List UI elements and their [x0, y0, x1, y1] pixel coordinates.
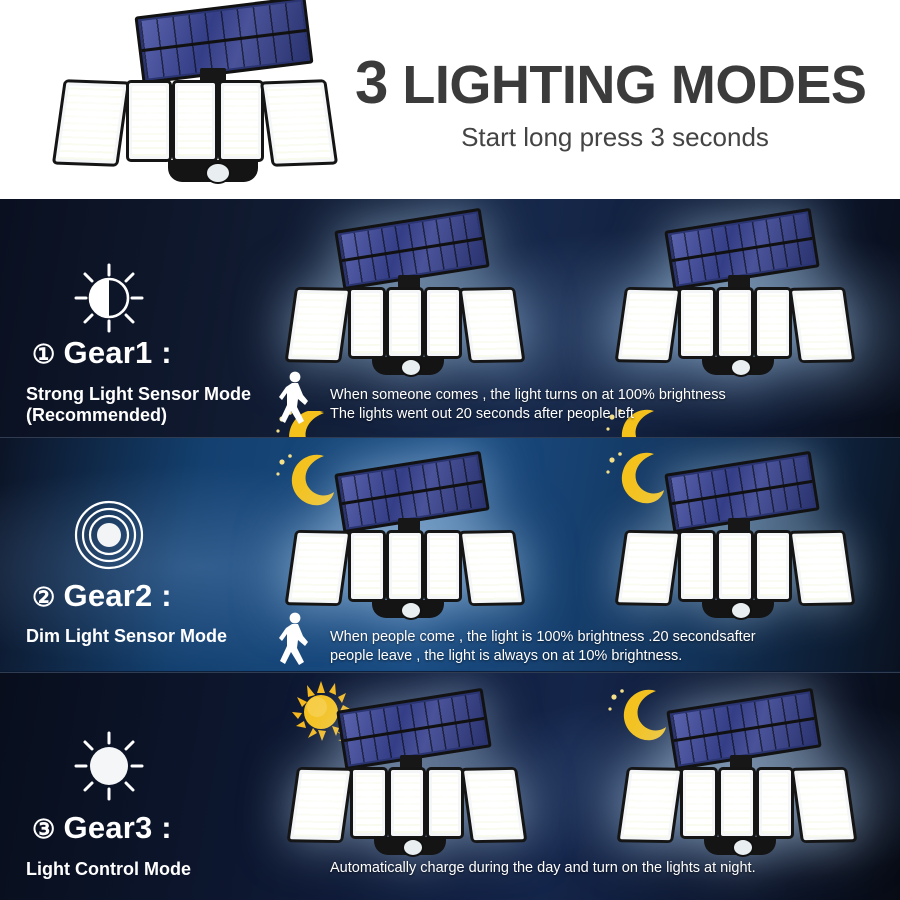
motion-sensor-icon	[400, 358, 422, 377]
led-array	[797, 773, 850, 837]
gear3-description-line1: Automatically charge during the day and …	[330, 859, 756, 878]
half-brightness-sun-icon	[74, 263, 144, 333]
led-panel-center-3	[426, 767, 464, 839]
led-head-group	[58, 80, 332, 166]
led-head-group	[290, 530, 520, 606]
gear1-description-line1: When someone comes , the light turns on …	[330, 386, 726, 405]
page-title-number: 3	[355, 49, 388, 116]
motion-sensor-icon	[730, 358, 752, 377]
led-array	[394, 773, 420, 833]
led-array	[356, 773, 382, 833]
gear2-subtitle-line1: Dim Light Sensor Mode	[26, 625, 227, 648]
led-panel-right-wing	[789, 530, 856, 606]
mode-section-gear3: ③Gear3 : Light Control Mode Automaticall…	[0, 673, 900, 900]
led-array	[293, 773, 346, 837]
led-panel-center-1	[348, 287, 386, 359]
led-array	[722, 293, 748, 353]
lit-lamp-illustration	[620, 462, 850, 622]
led-array	[621, 536, 674, 600]
lit-lamp-illustration	[290, 462, 520, 622]
led-array	[686, 773, 712, 833]
walking-person-icon	[278, 612, 312, 668]
led-array	[132, 86, 166, 156]
led-array	[795, 536, 848, 600]
led-array	[354, 293, 380, 353]
led-array	[760, 293, 786, 353]
led-array	[623, 773, 676, 837]
led-panel-center-2	[716, 530, 754, 602]
led-panel-left-wing	[615, 287, 682, 363]
gear2-description-line2: people leave , the light is always on at…	[330, 647, 682, 666]
led-array	[795, 293, 848, 357]
led-panel-center-2	[388, 767, 426, 839]
led-panel-center-3	[218, 80, 264, 162]
led-head-group	[620, 287, 850, 363]
gear-number-badge: ②	[32, 582, 56, 612]
led-panel-center-3	[424, 287, 462, 359]
led-panel-center-3	[756, 767, 794, 839]
led-array	[291, 536, 344, 600]
mode-section-gear2: ②Gear2 : Dim Light Sensor Mode When peop…	[0, 438, 900, 672]
gear3-subtitle-line1: Light Control Mode	[26, 858, 191, 881]
gear1-description-line2: The lights went out 20 seconds after peo…	[330, 405, 634, 424]
led-panel-right-wing	[789, 287, 856, 363]
led-panel-right-wing	[791, 767, 858, 843]
led-panel-center-2	[386, 530, 424, 602]
led-panel-right-wing	[459, 530, 526, 606]
led-panel-center-1	[678, 287, 716, 359]
led-array	[724, 773, 750, 833]
led-panel-center-3	[424, 530, 462, 602]
led-panel-center-1	[126, 80, 172, 162]
walking-person-icon	[278, 371, 312, 427]
led-array	[267, 85, 332, 160]
led-panel-right-wing	[461, 767, 528, 843]
led-panel-center-3	[754, 287, 792, 359]
product-image-solar-floodlight	[40, 2, 320, 192]
gear-title-label: Gear3 :	[64, 810, 172, 845]
gear-title-label: Gear2 :	[64, 578, 172, 613]
led-panel-left-wing	[617, 767, 684, 843]
led-panel-center-3	[754, 530, 792, 602]
page-subtitle: Start long press 3 seconds	[355, 122, 875, 153]
led-array	[467, 773, 520, 837]
gear1-subtitle-line2: (Recommended)	[26, 404, 167, 427]
led-array	[59, 85, 124, 160]
gear-number-badge: ③	[32, 814, 56, 844]
led-head-group	[290, 287, 520, 363]
gear3-title-row: ③Gear3 :	[32, 810, 172, 846]
led-array	[621, 293, 674, 357]
led-panel-center-1	[348, 530, 386, 602]
led-head-group	[620, 530, 850, 606]
led-panel-center-1	[680, 767, 718, 839]
lit-lamp-illustration	[622, 699, 852, 859]
lit-lamp-illustration	[620, 219, 850, 379]
led-array	[178, 86, 212, 156]
page-title-text: LIGHTING MODES	[388, 55, 867, 115]
full-sun-icon	[74, 731, 144, 801]
led-array	[760, 536, 786, 596]
led-panel-center-1	[350, 767, 388, 839]
led-panel-center-2	[172, 80, 218, 162]
infographic-page: 3 LIGHTING MODES Start long press 3 seco…	[0, 0, 900, 900]
led-panel-right-wing	[260, 79, 338, 166]
led-panel-center-2	[716, 287, 754, 359]
lit-lamp-illustration	[292, 699, 522, 859]
led-panel-center-1	[678, 530, 716, 602]
led-array	[432, 773, 458, 833]
led-array	[684, 536, 710, 596]
gear2-title-row: ②Gear2 :	[32, 578, 172, 614]
concentric-circles-dim-icon	[74, 500, 144, 570]
led-array	[465, 293, 518, 357]
led-panel-left-wing	[52, 79, 130, 166]
led-array	[430, 293, 456, 353]
led-panel-left-wing	[285, 530, 352, 606]
led-panel-left-wing	[287, 767, 354, 843]
mode-section-gear1: ①Gear1 : Strong Light Sensor Mode (Recom…	[0, 199, 900, 437]
page-title: 3 LIGHTING MODES	[355, 52, 875, 114]
gear1-title-row: ①Gear1 :	[32, 335, 172, 371]
motion-sensor-icon	[732, 838, 754, 857]
led-panel-right-wing	[459, 287, 526, 363]
led-array	[684, 293, 710, 353]
led-panel-center-2	[386, 287, 424, 359]
gear2-description-line1: When people come , the light is 100% bri…	[330, 628, 756, 647]
led-array	[392, 536, 418, 596]
led-array	[762, 773, 788, 833]
led-array	[392, 293, 418, 353]
lit-lamp-illustration	[290, 219, 520, 379]
motion-sensor-icon	[205, 162, 231, 184]
motion-sensor-icon	[730, 601, 752, 620]
gear-title-label: Gear1 :	[64, 335, 172, 370]
led-panel-left-wing	[285, 287, 352, 363]
gear-number-badge: ①	[32, 339, 56, 369]
led-head-group	[292, 767, 522, 843]
led-array	[354, 536, 380, 596]
led-panel-center-2	[718, 767, 756, 839]
header-section: 3 LIGHTING MODES Start long press 3 seco…	[0, 0, 900, 199]
led-panel-left-wing	[615, 530, 682, 606]
gear1-subtitle-line1: Strong Light Sensor Mode	[26, 383, 251, 406]
motion-sensor-icon	[400, 601, 422, 620]
led-array	[722, 536, 748, 596]
led-array	[465, 536, 518, 600]
motion-sensor-icon	[402, 838, 424, 857]
led-head-group	[622, 767, 852, 843]
led-array	[430, 536, 456, 596]
led-array	[291, 293, 344, 357]
led-array	[224, 86, 258, 156]
